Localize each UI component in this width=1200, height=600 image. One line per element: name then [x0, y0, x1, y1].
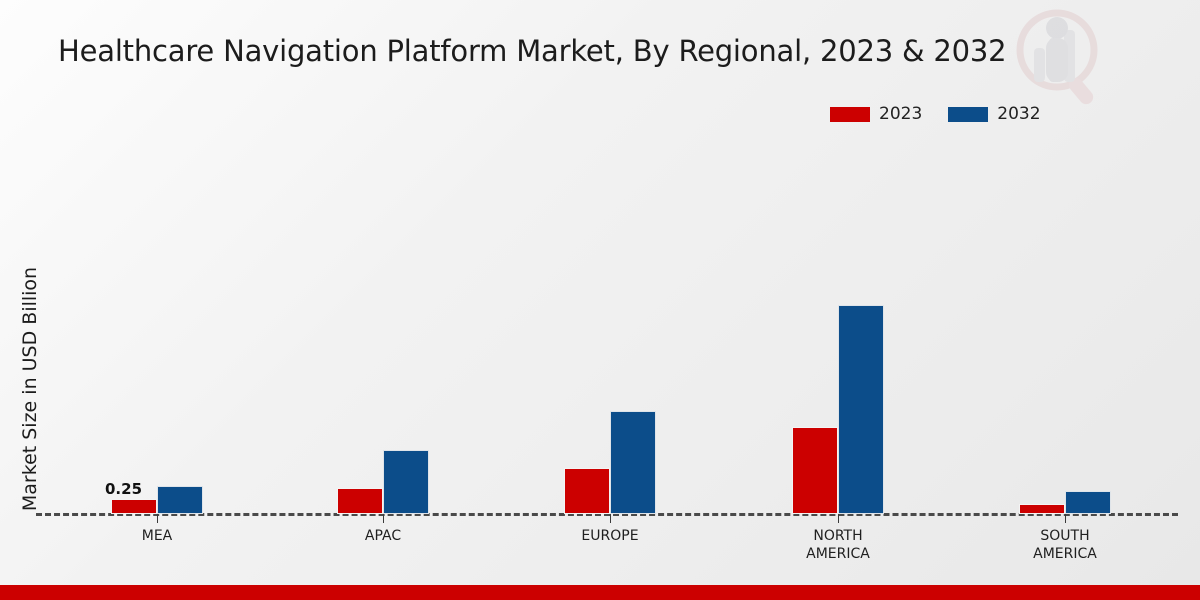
- bar-2023-south-america[interactable]: [1019, 504, 1065, 514]
- plot-area: MEAAPACEUROPENORTHAMERICASOUTHAMERICA0.2…: [0, 0, 1200, 600]
- x-axis-label-europe: EUROPE: [520, 527, 700, 545]
- bar-2023-mea[interactable]: [111, 499, 157, 514]
- chart-root: Healthcare Navigation Platform Market, B…: [0, 0, 1200, 600]
- bar-2032-south-america[interactable]: [1065, 491, 1111, 514]
- bar-2023-europe[interactable]: [564, 468, 610, 514]
- x-axis-tick: [838, 514, 839, 523]
- x-axis-label-apac: APAC: [293, 527, 473, 545]
- x-axis-tick: [610, 514, 611, 523]
- x-axis-label-south-america: SOUTHAMERICA: [975, 527, 1155, 563]
- x-axis-tick: [157, 514, 158, 523]
- x-axis-tick: [383, 514, 384, 523]
- x-axis-tick: [1065, 514, 1066, 523]
- bar-value-label: 0.25: [105, 480, 142, 498]
- x-axis-label-north-america: NORTHAMERICA: [748, 527, 928, 563]
- bar-2023-north-america[interactable]: [792, 427, 838, 514]
- x-axis-label-mea: MEA: [67, 527, 247, 545]
- footer-accent-bar: [0, 585, 1200, 600]
- bar-2032-europe[interactable]: [610, 411, 656, 514]
- bar-2032-apac[interactable]: [383, 450, 429, 514]
- bar-2023-apac[interactable]: [337, 488, 383, 514]
- bar-2032-north-america[interactable]: [838, 305, 884, 514]
- bar-2032-mea[interactable]: [157, 486, 203, 514]
